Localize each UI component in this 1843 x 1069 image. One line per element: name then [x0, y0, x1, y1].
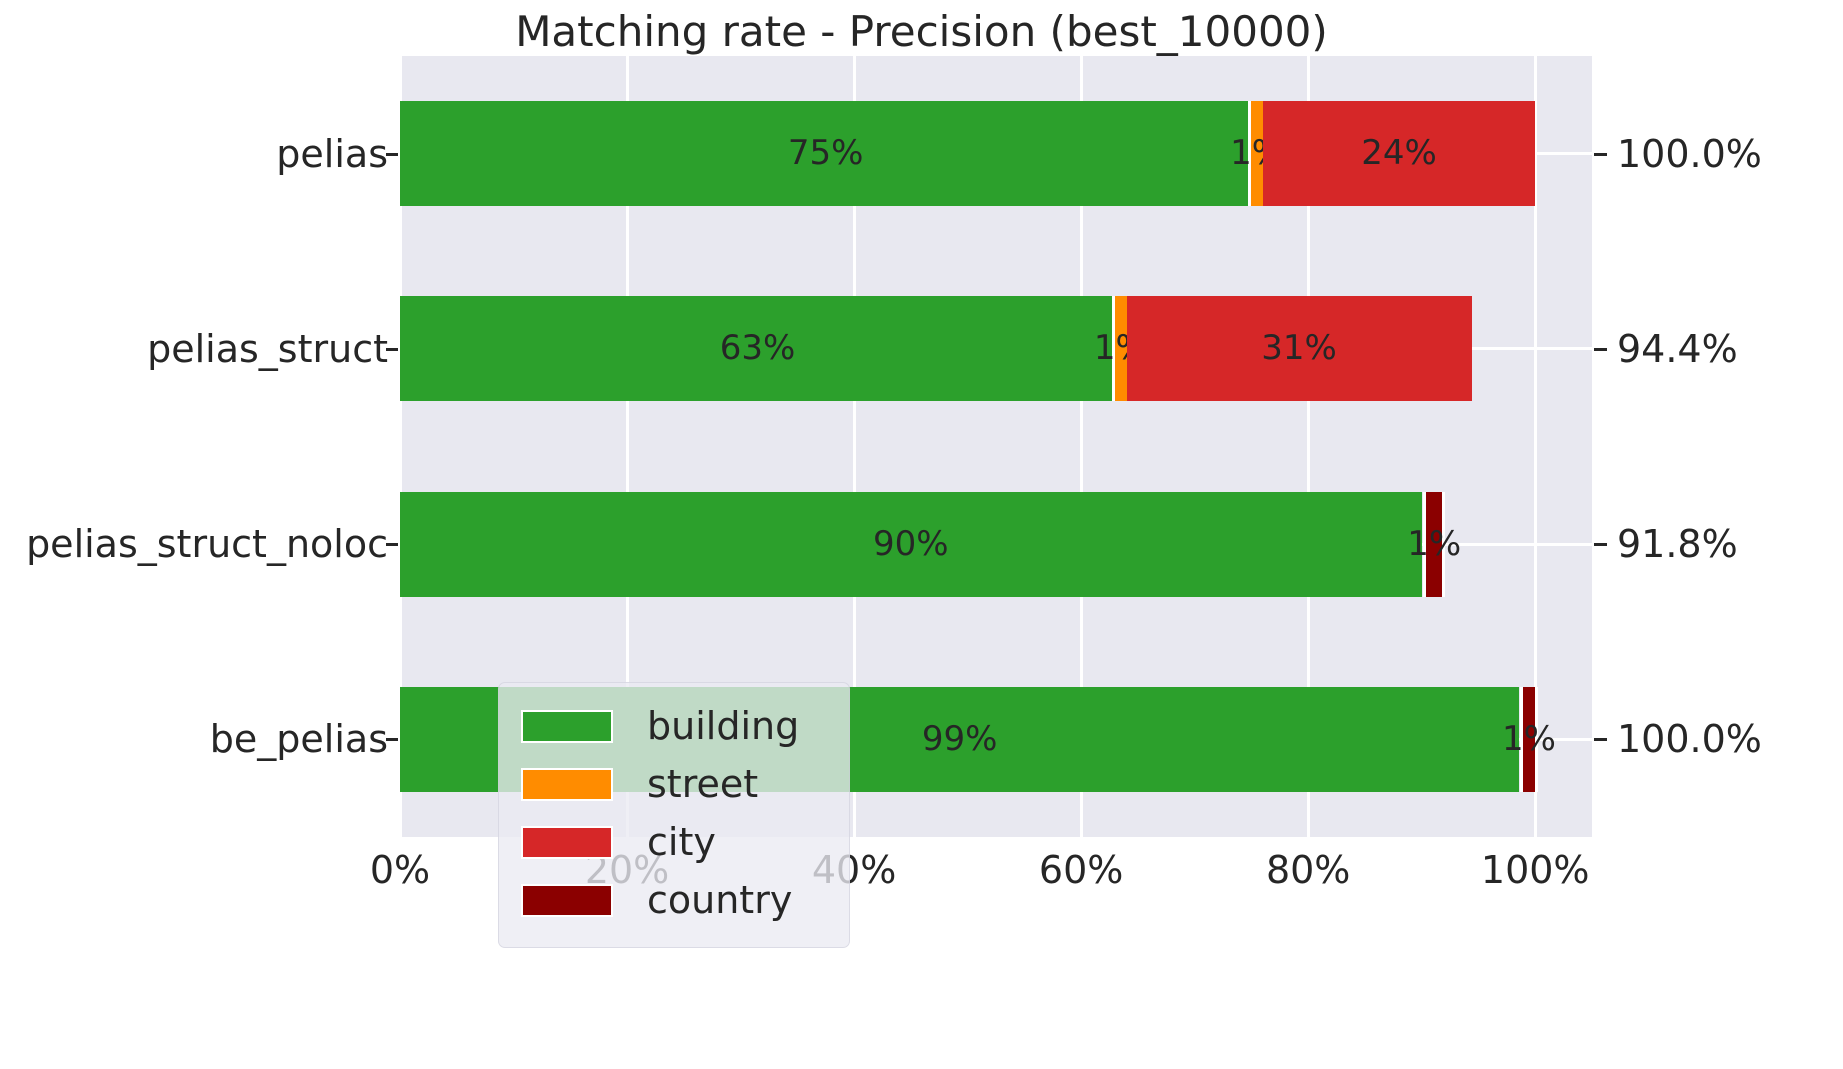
legend-swatch-country [521, 884, 613, 917]
legend-swatch-city [521, 826, 613, 859]
bar-segment-country [1426, 492, 1442, 597]
right-tick-label: 94.4% [1617, 327, 1738, 371]
y-tick-mark [386, 543, 398, 546]
bar-segment-edge [1442, 492, 1445, 597]
legend-swatch-building [521, 710, 613, 743]
x-tick-label: 80% [1208, 848, 1408, 892]
bar-segment-edge [1112, 296, 1115, 401]
bar-segment-country [1523, 687, 1535, 792]
bar-segment-building [400, 492, 1422, 597]
right-tick-mark [1594, 543, 1607, 546]
chart-figure: Matching rate - Precision (best_10000) 7… [0, 0, 1843, 1069]
legend-item-country[interactable]: country [499, 871, 849, 929]
y-tick-label-be_pelias: be_pelias [210, 717, 388, 761]
bar-segment-street [1251, 101, 1262, 206]
y-tick-label-pelias_struct_noloc: pelias_struct_noloc [26, 522, 388, 566]
y-tick-mark [386, 348, 398, 351]
right-tick-mark [1594, 348, 1607, 351]
y-tick-mark [386, 738, 398, 741]
bar-segment-city [1127, 296, 1472, 401]
y-tick-label-pelias: pelias [276, 132, 388, 176]
right-tick-mark [1594, 153, 1607, 156]
right-tick-mark [1594, 738, 1607, 741]
legend-swatch-street [521, 768, 613, 801]
right-tick-label: 100.0% [1617, 132, 1762, 176]
bar-segment-edge [1423, 492, 1426, 597]
y-tick-mark [386, 153, 398, 156]
bar-segment-edge [1248, 101, 1251, 206]
legend-label: country [647, 878, 792, 922]
legend-item-city[interactable]: city [499, 813, 849, 871]
bar-row: 63%1%31% [400, 296, 1592, 401]
x-tick-label: 0% [300, 848, 500, 892]
bar-segment-edge [1520, 687, 1523, 792]
x-tick-label: 100% [1435, 848, 1635, 892]
y-tick-label-pelias_struct: pelias_struct [147, 327, 388, 371]
x-tick-label: 60% [981, 848, 1181, 892]
bar-segment-street [1115, 296, 1126, 401]
legend-item-building[interactable]: building [499, 697, 849, 755]
bar-segment-edge [1535, 687, 1538, 792]
legend-label: city [647, 820, 716, 864]
bar-row: 90%1% [400, 492, 1592, 597]
legend-label: building [647, 704, 799, 748]
bar-row: 75%1%24% [400, 101, 1592, 206]
legend-item-street[interactable]: street [499, 755, 849, 813]
bar-segment-city [1263, 101, 1535, 206]
right-tick-label: 100.0% [1617, 717, 1762, 761]
bar-segment-building [400, 296, 1115, 401]
bar-segment-building [400, 101, 1251, 206]
chart-legend[interactable]: buildingstreetcitycountry [498, 682, 850, 948]
chart-title: Matching rate - Precision (best_10000) [0, 8, 1843, 56]
right-tick-label: 91.8% [1617, 522, 1738, 566]
legend-label: street [647, 762, 758, 806]
